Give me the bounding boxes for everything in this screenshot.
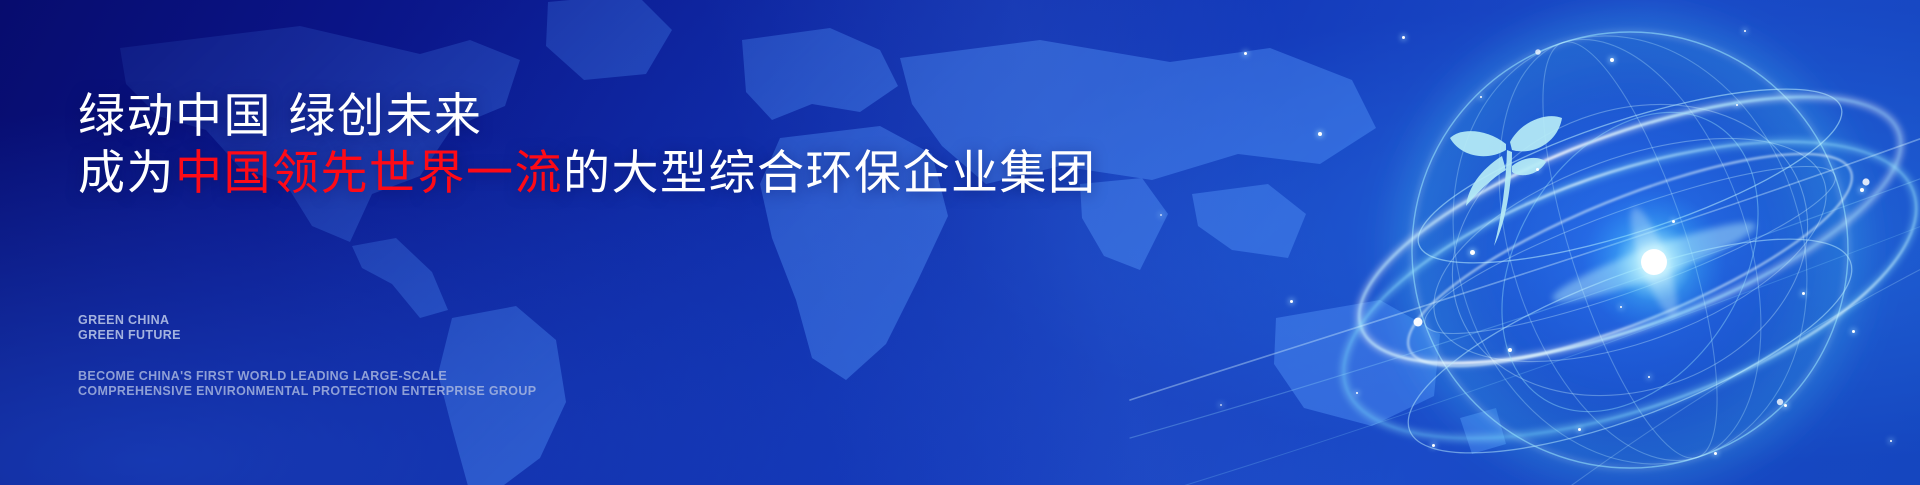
headline-accent: 中国领先世界一流: [175, 146, 563, 201]
statement-line-2: COMPREHENSIVE ENVIRONMENTAL PROTECTION E…: [78, 384, 536, 399]
banner-content: 绿动中国 绿创未来 成为中国领先世界一流的大型综合环保企业集团 GREEN CH…: [78, 0, 1128, 485]
headline-suffix: 的大型综合环保企业集团: [563, 146, 1097, 201]
statement-english: BECOME CHINA'S FIRST WORLD LEADING LARGE…: [78, 369, 536, 399]
hero-banner: 绿动中国 绿创未来 成为中国领先世界一流的大型综合环保企业集团 GREEN CH…: [0, 0, 1920, 485]
headline-line-1: 绿动中国 绿创未来: [78, 88, 1097, 145]
headline: 绿动中国 绿创未来 成为中国领先世界一流的大型综合环保企业集团: [78, 88, 1097, 202]
tagline-line-2: GREEN FUTURE: [78, 328, 181, 343]
headline-prefix: 成为: [78, 146, 175, 201]
statement-line-1: BECOME CHINA'S FIRST WORLD LEADING LARGE…: [78, 369, 536, 384]
headline-line-2: 成为中国领先世界一流的大型综合环保企业集团: [78, 145, 1097, 202]
tagline-line-1: GREEN CHINA: [78, 313, 181, 328]
tagline-english: GREEN CHINA GREEN FUTURE: [78, 313, 181, 343]
